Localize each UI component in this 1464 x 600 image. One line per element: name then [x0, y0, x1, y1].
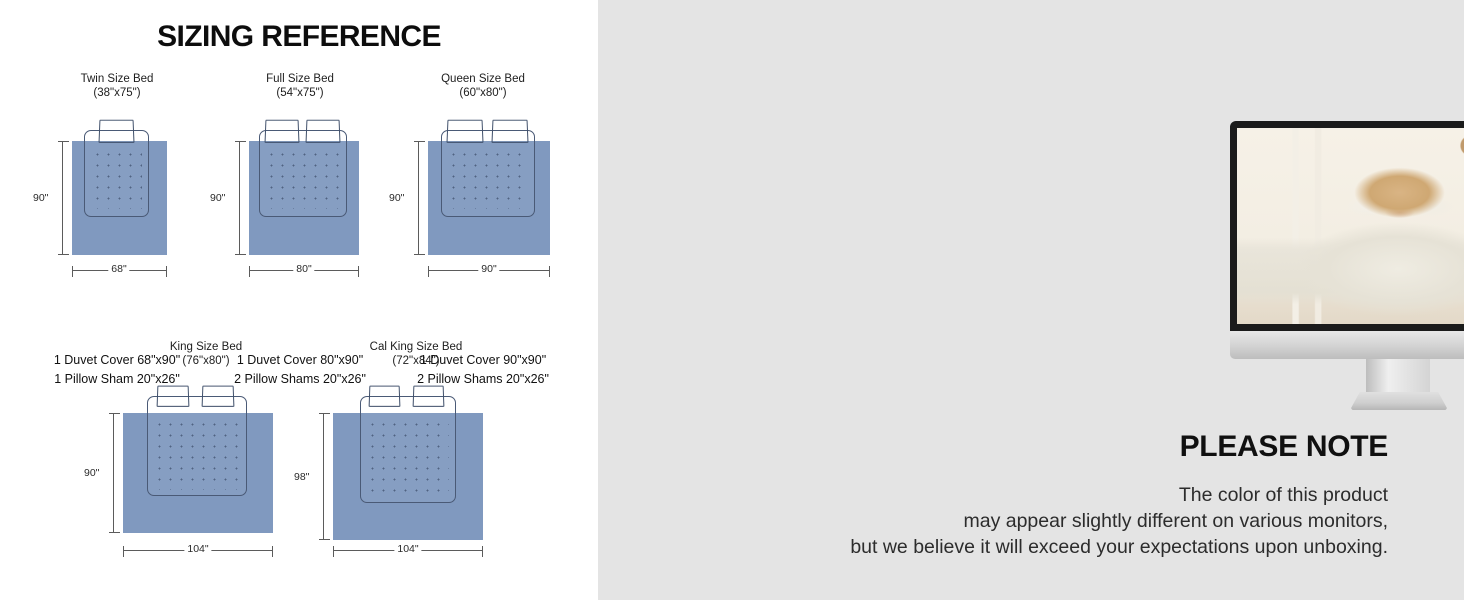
desktop-monitor-device [1230, 121, 1464, 331]
bed-label-queen: Queen Size Bed (60"x80") [388, 73, 578, 100]
height-dimension-line-queen [418, 141, 419, 255]
sizing-reference-infographic: SIZING REFERENCE Twin Size Bed (38"x75")… [0, 0, 1464, 600]
bed-label-king: King Size Bed (76"x80") [95, 341, 317, 368]
please-note-heading: PLEASE NOTE [1180, 430, 1388, 464]
page-title: SIZING REFERENCE [0, 20, 598, 54]
note-line-2: may appear slightly different on various… [688, 508, 1388, 534]
pillow-queen-2 [491, 120, 528, 143]
pillow-cal-king-2 [413, 386, 445, 407]
note-line-3: but we believe it will exceed your expec… [688, 534, 1388, 560]
bed-label-cal-king: Cal King Size Bed (72"x84") [305, 341, 527, 368]
width-dimension-label-twin: 68" [108, 263, 129, 275]
height-dimension-line-cal-king [323, 413, 324, 540]
bed-card-king: King Size Bed (76"x80") 90" 104" 1 Duvet… [95, 341, 317, 528]
width-dimension-label-cal-king: 104" [394, 543, 421, 555]
bed-dims-cal-king: (72"x84") [305, 355, 527, 369]
bed-diagram-twin: 90" 68" [22, 105, 212, 255]
mattress-dot-pattern-queen [448, 149, 528, 209]
width-dimension-label-full: 80" [293, 263, 314, 275]
bed-card-twin: Twin Size Bed (38"x75") 90" 68" 1 Duvet … [22, 73, 212, 255]
height-dimension-label-twin: 90" [33, 192, 48, 204]
bed-name-cal-king: Cal King Size Bed [370, 341, 463, 353]
bed-diagram-queen: 90" 90" [388, 105, 578, 255]
bed-diagram-cal-king: 98" 104" [305, 373, 527, 528]
bed-name-full: Full Size Bed [266, 73, 334, 85]
pillow-queen-1 [446, 120, 483, 143]
note-line-1: The color of this product [688, 482, 1388, 508]
bed-name-queen: Queen Size Bed [441, 73, 525, 85]
bed-card-queen: Queen Size Bed (60"x80") 90" 90" 1 Duvet… [388, 73, 578, 255]
monitor-chin [1230, 331, 1464, 359]
bed-card-full: Full Size Bed (54"x75") 90" 80" 1 Duvet … [205, 73, 395, 255]
bed-name-twin: Twin Size Bed [81, 73, 154, 85]
please-note-body: The color of this product may appear sli… [688, 482, 1388, 560]
height-dimension-label-king: 90" [84, 467, 99, 479]
height-dimension-label-cal-king: 98" [294, 471, 309, 483]
pillow-king-2 [202, 386, 235, 407]
pillow-cal-king-1 [369, 386, 401, 407]
bed-diagram-full: 90" 80" [205, 105, 395, 255]
product-showcase-panel: PLEASE NOTE The color of this product ma… [598, 0, 1464, 600]
bedroom-product-photo-monitor [1237, 128, 1464, 324]
bed-dims-twin: (38"x75") [22, 87, 212, 101]
pillow-full-2 [306, 120, 341, 143]
bed-card-cal-king: Cal King Size Bed (72"x84") 98" 104" 1 D… [305, 341, 527, 528]
bed-dims-full: (54"x75") [205, 87, 395, 101]
height-dimension-label-queen: 90" [389, 192, 404, 204]
width-dimension-label-queen: 90" [478, 263, 499, 275]
pillow-king-1 [157, 386, 190, 407]
monitor-stand-base [1350, 392, 1448, 410]
mattress-dot-pattern-twin [92, 149, 142, 209]
mattress-dot-pattern-full [266, 149, 340, 209]
bed-dims-queen: (60"x80") [388, 87, 578, 101]
mattress-dot-pattern-cal-king [367, 419, 449, 496]
width-dimension-label-king: 104" [184, 543, 211, 555]
monitor-stand-neck [1366, 359, 1430, 397]
bed-diagram-king: 90" 104" [95, 373, 317, 528]
bed-name-king: King Size Bed [170, 341, 242, 353]
height-dimension-line-full [239, 141, 240, 255]
sizing-reference-panel: SIZING REFERENCE Twin Size Bed (38"x75")… [0, 0, 598, 600]
height-dimension-line-king [113, 413, 114, 533]
bed-label-twin: Twin Size Bed (38"x75") [22, 73, 212, 100]
mattress-dot-pattern-king [154, 419, 240, 490]
height-dimension-line-twin [62, 141, 63, 255]
bed-dims-king: (76"x80") [95, 355, 317, 369]
pillow-full-1 [265, 120, 300, 143]
bed-label-full: Full Size Bed (54"x75") [205, 73, 395, 100]
pillow-twin-1 [99, 120, 135, 143]
height-dimension-label-full: 90" [210, 192, 225, 204]
